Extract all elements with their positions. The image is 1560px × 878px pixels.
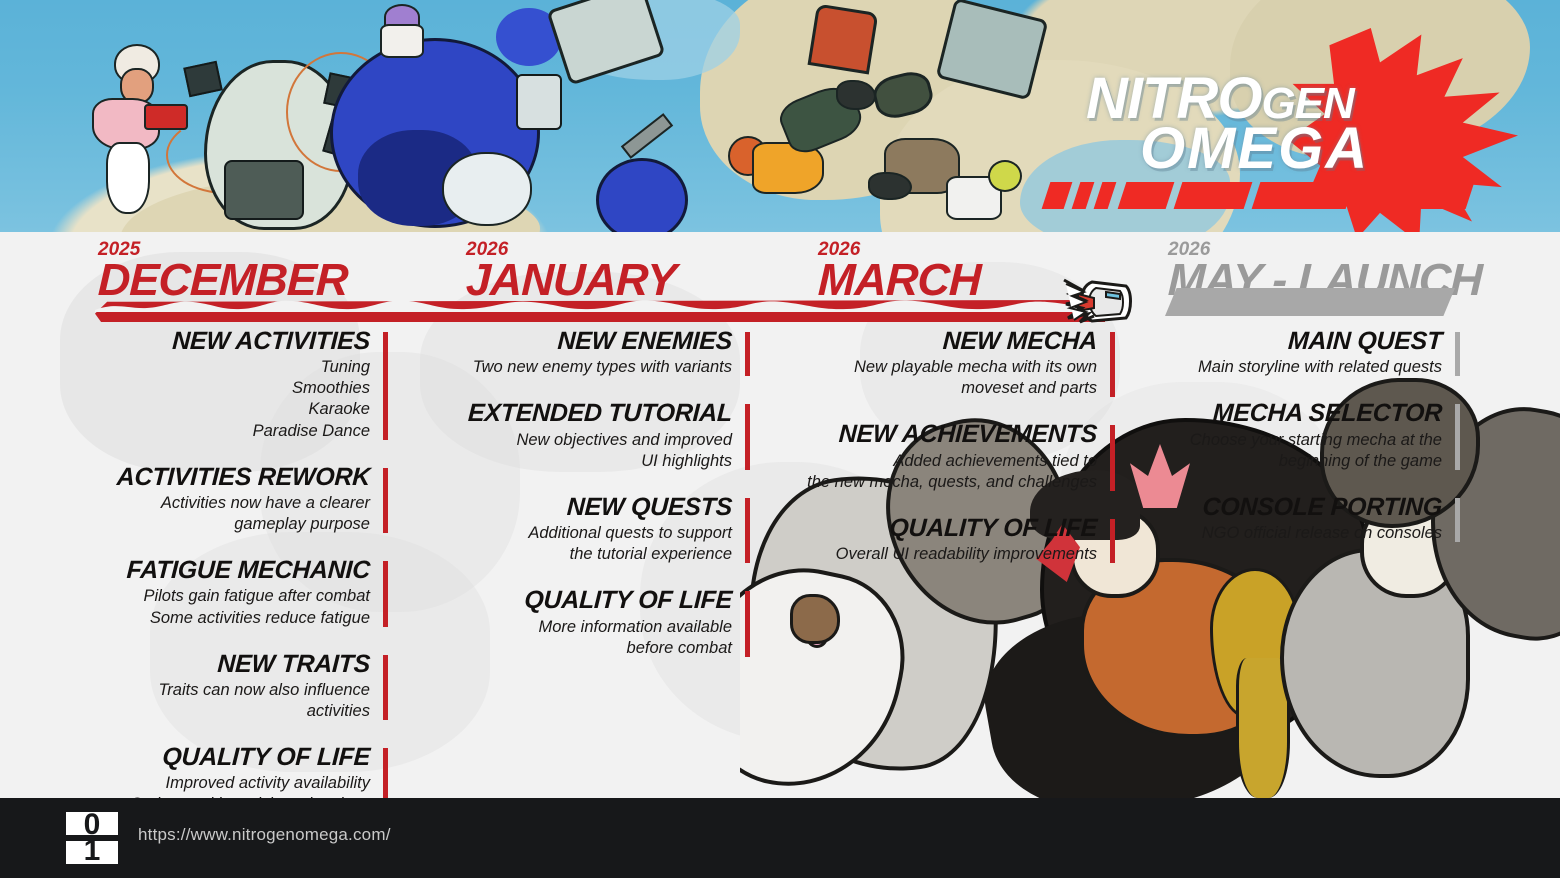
roadmap-item[interactable]: NEW ACHIEVEMENTS Added achievements tied…	[790, 421, 1115, 492]
roadmap-item[interactable]: FATIGUE MECHANIC Pilots gain fatigue aft…	[100, 557, 388, 628]
column-may-launch: MAIN QUEST Main storyline with related q…	[1160, 328, 1460, 566]
roadmap-item[interactable]: NEW ENEMIES Two new enemy types with var…	[460, 328, 750, 378]
item-title: CONSOLE PORTING	[1159, 494, 1442, 520]
item-accent-bar	[383, 332, 388, 440]
item-accent-bar	[383, 468, 388, 533]
logo-speed-bars-icon	[1042, 174, 1472, 216]
roadmap-item[interactable]: NEW QUESTS Additional quests to support …	[460, 494, 750, 565]
item-title: ACTIVITIES REWORK	[99, 464, 370, 490]
item-title: MECHA SELECTOR	[1159, 400, 1442, 426]
footer-bar: 0 1 https://www.nitrogenomega.com/	[0, 798, 1560, 878]
item-desc: Pilots gain fatigue after combat Some ac…	[100, 586, 370, 628]
item-desc: Additional quests to support the tutoria…	[460, 523, 732, 565]
column-january: NEW ENEMIES Two new enemy types with var…	[460, 328, 750, 681]
roadmap-item[interactable]: MAIN QUEST Main storyline with related q…	[1160, 328, 1460, 378]
item-accent-bar	[745, 332, 750, 376]
item-accent-bar	[1110, 519, 1115, 563]
item-accent-bar	[383, 655, 388, 720]
roadmap-item[interactable]: NEW MECHA New playable mecha with its ow…	[790, 328, 1115, 399]
item-title: EXTENDED TUTORIAL	[459, 400, 732, 426]
debris-tire	[596, 158, 688, 232]
website-url[interactable]: https://www.nitrogenomega.com/	[138, 825, 391, 845]
mecha-head-icon	[1062, 278, 1134, 324]
item-desc: Two new enemy types with variants	[460, 357, 732, 378]
item-desc: New objectives and improved UI highlight…	[460, 430, 732, 472]
roadmap-item[interactable]: MECHA SELECTOR Choose your starting mech…	[1160, 400, 1460, 471]
game-logo: NITROGEN OMEGA	[1042, 56, 1512, 221]
debris-wrench	[621, 113, 673, 159]
timeline-col-march: 2026 MARCH	[818, 240, 980, 302]
item-accent-bar	[745, 498, 750, 563]
timeline-bar-gray	[1165, 288, 1455, 316]
roadmap-item[interactable]: CONSOLE PORTING NGO official release on …	[1160, 494, 1460, 544]
item-title: NEW ENEMIES	[459, 328, 732, 354]
item-title: NEW ACTIVITIES	[99, 328, 370, 354]
item-desc: Main storyline with related quests	[1160, 357, 1442, 378]
logo-digit-one: 1	[84, 834, 101, 868]
item-title: QUALITY OF LIFE	[459, 587, 732, 613]
item-desc: Activities now have a clearer gameplay p…	[100, 493, 370, 535]
character-purple-hair	[372, 2, 442, 62]
logo-wordmark: NITROGEN OMEGA	[1086, 74, 1466, 174]
roadmap-item[interactable]: ACTIVITIES REWORK Activities now have a …	[100, 464, 388, 535]
item-desc: Added achievements tied to the new mecha…	[790, 451, 1097, 493]
item-accent-bar	[745, 591, 750, 656]
item-desc: More information available before combat	[460, 617, 732, 659]
logo-line-omega: OMEGA	[1140, 124, 1466, 174]
timeline-wave-texture	[95, 296, 1105, 312]
item-accent-bar	[1455, 404, 1460, 469]
roadmap-item[interactable]: QUALITY OF LIFE Overall UI readability i…	[790, 515, 1115, 565]
debris-panel-red	[808, 4, 879, 75]
item-title: NEW MECHA	[789, 328, 1097, 354]
item-title: FATIGUE MECHANIC	[99, 557, 370, 583]
studio-logo-icon: 0 1	[66, 812, 118, 864]
item-title: QUALITY OF LIFE	[99, 744, 370, 770]
item-desc: Traits can now also influence activities	[100, 680, 370, 722]
item-title: NEW TRAITS	[99, 651, 370, 677]
item-title: QUALITY OF LIFE	[789, 515, 1097, 541]
item-accent-bar	[383, 561, 388, 626]
character-green-hair	[884, 124, 1014, 232]
column-march: NEW MECHA New playable mecha with its ow…	[790, 328, 1115, 587]
roadmap-item[interactable]: QUALITY OF LIFE More information availab…	[460, 587, 750, 658]
item-accent-bar	[1455, 498, 1460, 542]
item-desc: Overall UI readability improvements	[790, 544, 1097, 565]
timeline-col-december: 2025 DECEMBER	[98, 240, 348, 302]
timeline-col-january: 2026 JANUARY	[466, 240, 676, 302]
hero-key-art: NITROGEN OMEGA	[0, 0, 1560, 232]
item-title: MAIN QUEST	[1159, 328, 1442, 354]
roadmap-item[interactable]: NEW ACTIVITIES Tuning Smoothies Karaoke …	[100, 328, 388, 442]
roadmap-columns: NEW ACTIVITIES Tuning Smoothies Karaoke …	[0, 328, 1560, 798]
item-desc: NGO official release on consoles	[1160, 523, 1442, 544]
item-desc: New playable mecha with its own moveset …	[790, 357, 1097, 399]
item-accent-bar	[1110, 332, 1115, 397]
item-accent-bar	[1455, 332, 1460, 376]
item-title: NEW QUESTS	[459, 494, 732, 520]
item-desc: Tuning Smoothies Karaoke Paradise Dance	[100, 357, 370, 441]
item-accent-bar	[745, 404, 750, 469]
roadmap-item[interactable]: EXTENDED TUTORIAL New objectives and imp…	[460, 400, 750, 471]
item-title: NEW ACHIEVEMENTS	[789, 421, 1097, 447]
item-accent-bar	[1110, 425, 1115, 490]
roadmap-item[interactable]: NEW TRAITS Traits can now also influence…	[100, 651, 388, 722]
character-orange	[728, 86, 848, 206]
item-desc: Choose your starting mecha at the beginn…	[1160, 430, 1442, 472]
column-december: NEW ACTIVITIES Tuning Smoothies Karaoke …	[100, 328, 388, 838]
